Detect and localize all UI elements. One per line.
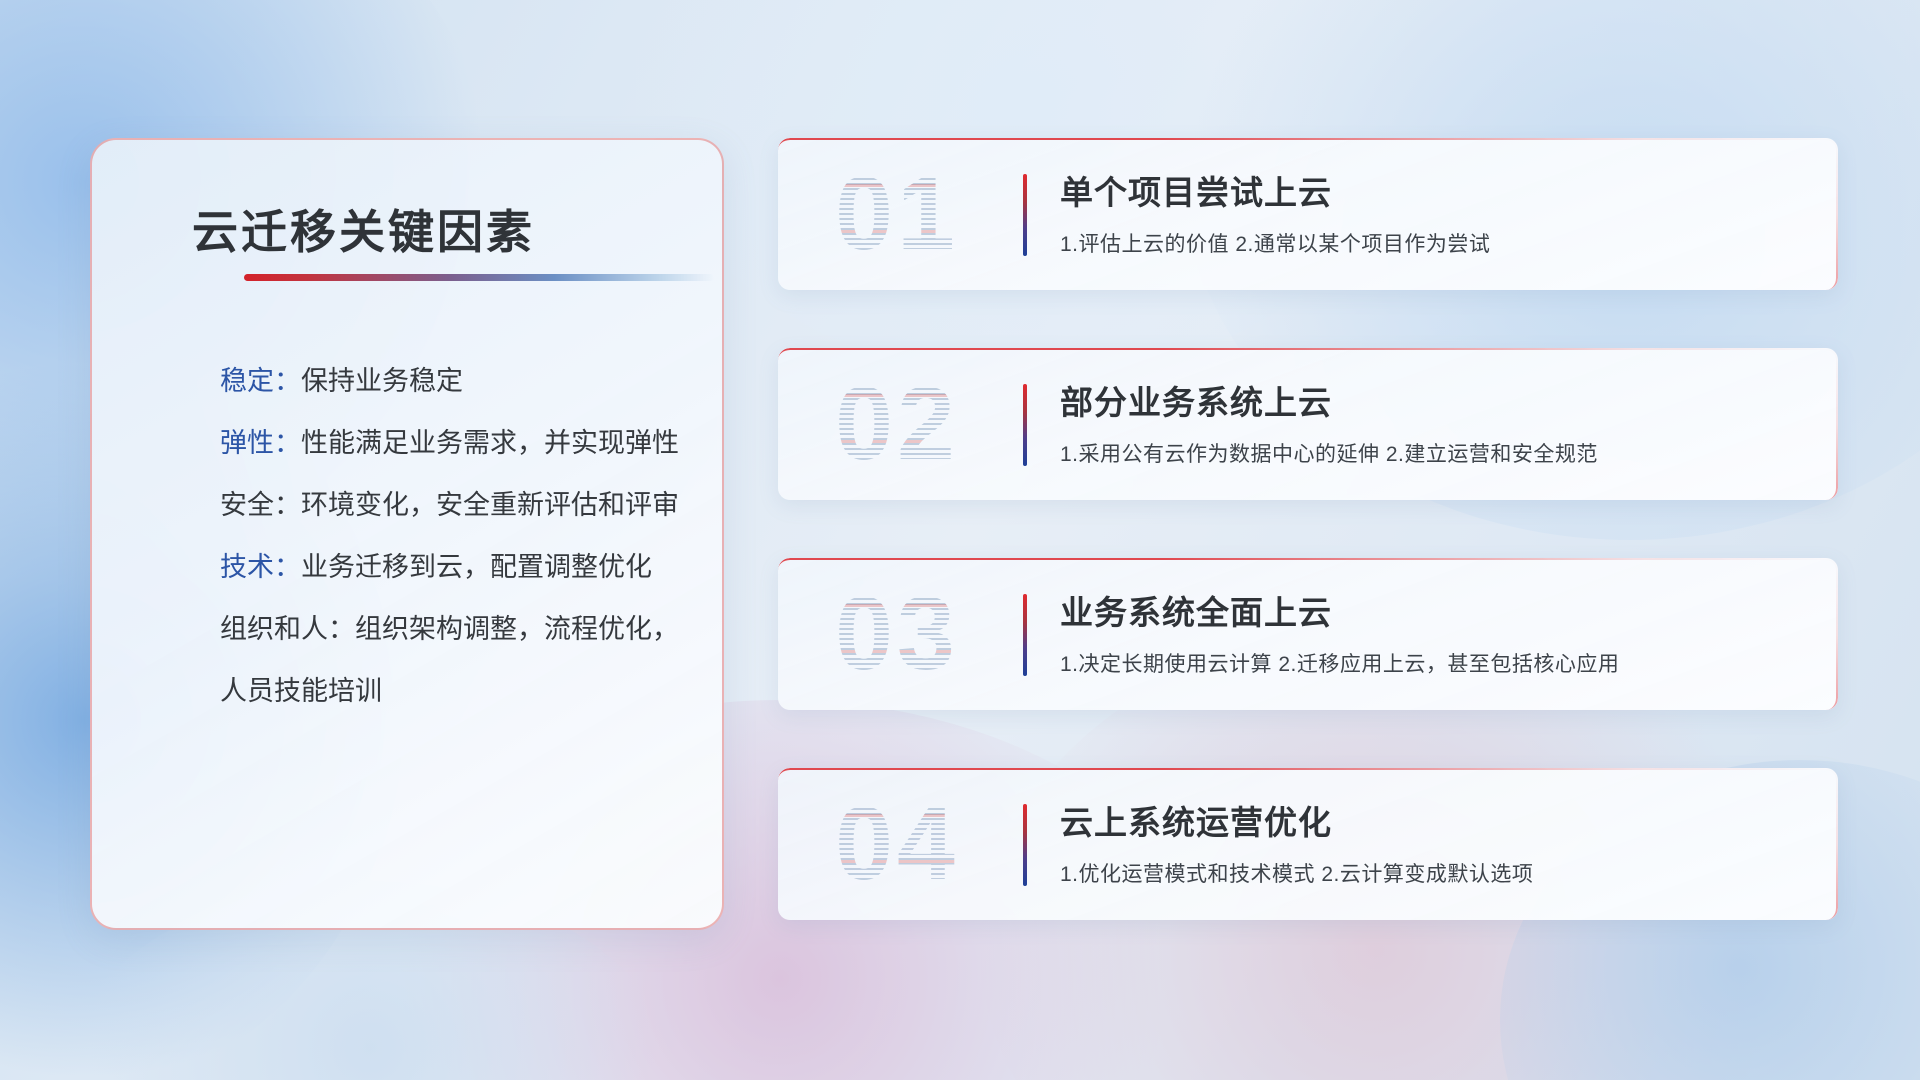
stage-description: 1.采用公有云作为数据中心的延伸 2.建立运营和安全规范 [1060,438,1598,468]
list-item-stability: 稳定：保持业务稳定 [220,368,780,395]
fact-key: 安全： [220,490,301,520]
list-item-security: 安全：环境变化，安全重新评估和评审 [220,492,780,519]
slide-canvas: 云迁移关键因素 稳定：保持业务稳定 弹性：性能满足业务需求，并实现弹性 安全：环… [0,0,1920,1080]
fact-key: 弹性： [220,428,301,458]
stage-accent-bar [1023,804,1027,886]
stage-title: 部分业务系统上云 [1060,376,1332,424]
stage-number-watermark-tint: 03 [802,578,992,690]
stage-number-watermark-tint: 01 [802,158,992,270]
stage-accent-bar [1023,594,1027,676]
stage-title: 单个项目尝试上云 [1060,166,1332,214]
stage-description: 1.决定长期使用云计算 2.迁移应用上云，甚至包括核心应用 [1060,648,1619,678]
stage-number-watermark-tint: 02 [802,368,992,480]
stage-card-04[interactable]: 04 04 云上系统运营优化 1.优化运营模式和技术模式 2.云计算变成默认选项 [778,768,1838,920]
list-item-organization: 组织和人：组织架构调整，流程优化， [220,616,780,643]
list-item-technology: 技术：业务迁移到云，配置调整优化 [220,554,780,581]
stage-title: 云上系统运营优化 [1060,796,1332,844]
stage-title: 业务系统全面上云 [1060,586,1332,634]
stage-accent-bar [1023,384,1027,466]
fact-key: 技术： [220,552,301,582]
stage-accent-bar [1023,174,1027,256]
stage-description: 1.评估上云的价值 2.通常以某个项目作为尝试 [1060,228,1490,258]
fact-key: 组织和人： [220,614,355,644]
fact-value: 性能满足业务需求，并实现弹性 [301,428,679,458]
fact-value: 组织架构调整，流程优化， [355,614,679,644]
stage-card-03[interactable]: 03 03 业务系统全面上云 1.决定长期使用云计算 2.迁移应用上云，甚至包括… [778,558,1838,710]
stage-description: 1.优化运营模式和技术模式 2.云计算变成默认选项 [1060,858,1533,888]
list-item-elasticity: 弹性：性能满足业务需求，并实现弹性 [220,430,780,457]
fact-key: 稳定： [220,366,301,396]
stage-number-watermark-tint: 04 [802,788,992,900]
stage-card-01[interactable]: 01 01 单个项目尝试上云 1.评估上云的价值 2.通常以某个项目作为尝试 [778,138,1838,290]
page-title: 云迁移关键因素 [192,196,662,262]
fact-value: 业务迁移到云，配置调整优化 [301,552,652,582]
fact-value: 环境变化，安全重新评估和评审 [301,490,679,520]
key-factors-panel: 云迁移关键因素 稳定：保持业务稳定 弹性：性能满足业务需求，并实现弹性 安全：环… [90,138,724,930]
title-underline-accent [244,274,714,281]
fact-value: 人员技能培训 [220,676,382,706]
fact-value: 保持业务稳定 [301,366,463,396]
list-item-organization-cont: 人员技能培训 [220,678,780,705]
stage-card-02[interactable]: 02 02 部分业务系统上云 1.采用公有云作为数据中心的延伸 2.建立运营和安… [778,348,1838,500]
